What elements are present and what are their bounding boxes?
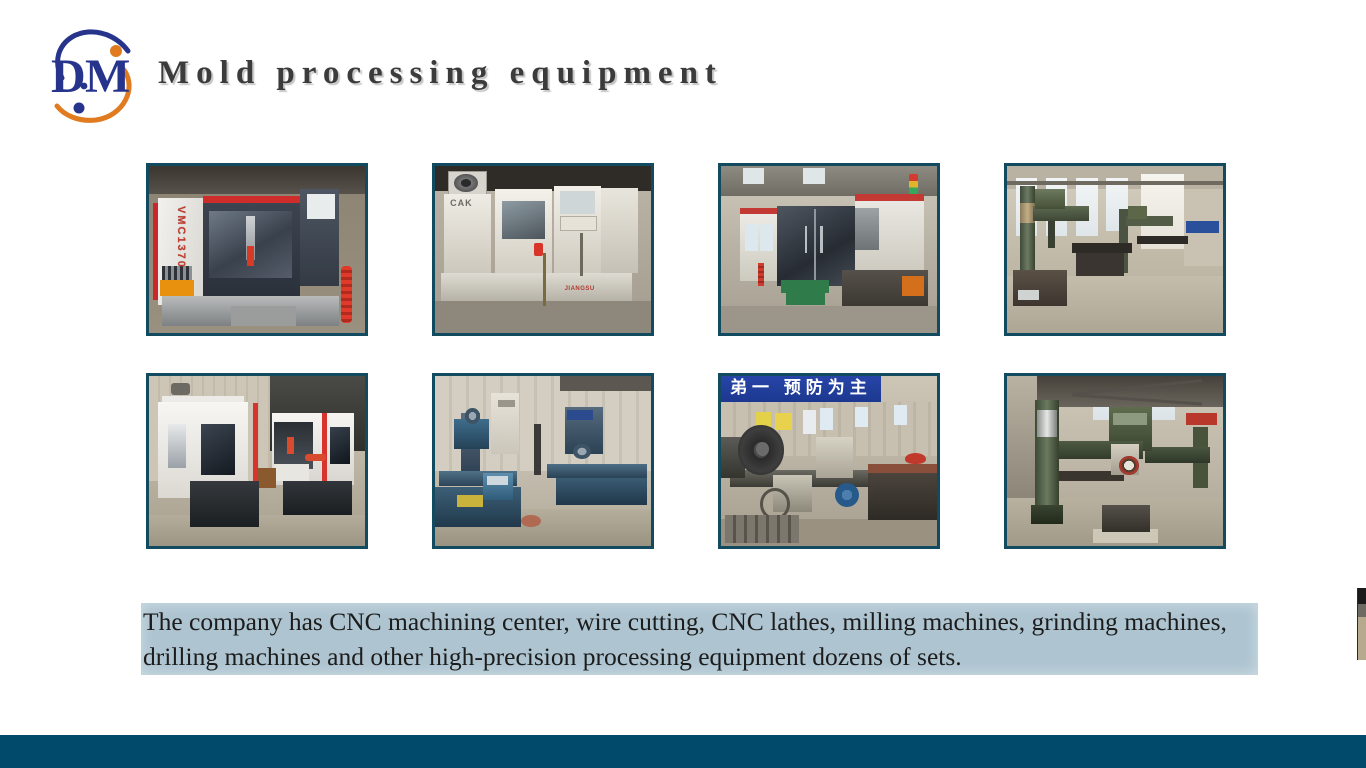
- dm-logo: D M: [44, 22, 140, 130]
- photo-green-radial-drill[interactable]: [1004, 373, 1226, 549]
- slide-root: D M Mold processing equipment: [0, 0, 1366, 768]
- photo-gallery: VMC1370 CAK JIANGSU: [146, 163, 1246, 549]
- svg-text:D: D: [51, 50, 86, 103]
- photo-vmc1370-machining-center[interactable]: VMC1370: [146, 163, 368, 336]
- svg-text:M: M: [85, 50, 130, 103]
- photo-scene: [435, 376, 651, 546]
- gallery-row-1: VMC1370 CAK JIANGSU: [146, 163, 1246, 336]
- page-title: Mold processing equipment: [158, 55, 723, 98]
- dm-logo-icon: D M: [44, 22, 140, 130]
- photo-cnc-machining-center-large[interactable]: [718, 163, 940, 336]
- photo-blue-boring-mills[interactable]: [432, 373, 654, 549]
- safety-banner-text: 弟一 预防为主: [723, 379, 879, 396]
- gallery-row-2: 弟一 预防为主: [146, 373, 1246, 549]
- caption-text: The company has CNC machining center, wi…: [141, 603, 1258, 675]
- signal-tower-light: [909, 174, 918, 194]
- photo-scene: [149, 376, 365, 546]
- machine-model-label: VMC1370: [175, 206, 186, 269]
- photo-scene: [721, 166, 937, 333]
- photo-cak-grinding-machine[interactable]: CAK JIANGSU: [432, 163, 654, 336]
- photo-scene: [1007, 166, 1223, 333]
- machine-brand-label: CAK: [450, 199, 473, 208]
- offscreen-photo-sliver[interactable]: [1357, 588, 1366, 660]
- photo-workshop-radial-drills[interactable]: [1004, 163, 1226, 336]
- footer-bar: [0, 735, 1366, 768]
- photo-scene: [1007, 376, 1223, 546]
- photo-heavy-lathe[interactable]: 弟一 预防为主: [718, 373, 940, 549]
- photo-scene: [435, 166, 651, 333]
- photo-scene: 弟一 预防为主: [721, 376, 937, 546]
- photo-modern-cnc-pair[interactable]: [146, 373, 368, 549]
- slide-header: D M Mold processing equipment: [44, 22, 723, 130]
- machine-maker-label: JIANGSU: [565, 286, 595, 292]
